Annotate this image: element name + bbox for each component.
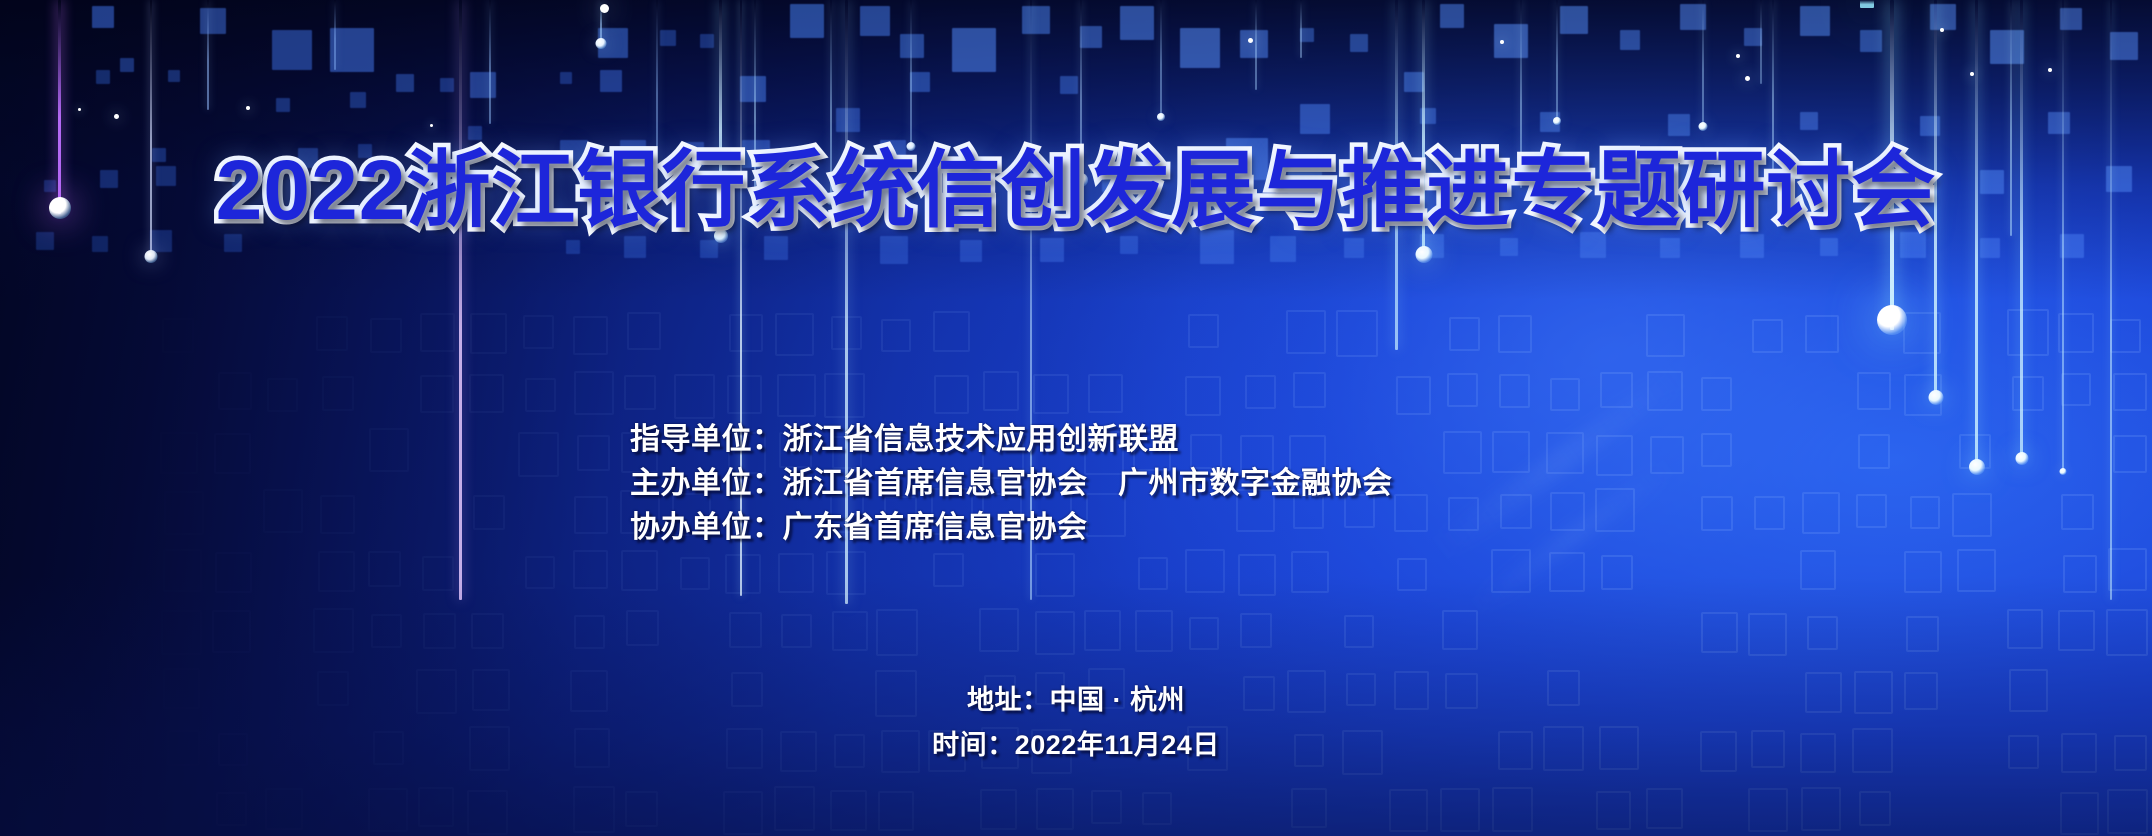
organizer-block: 指导单位：浙江省信息技术应用创新联盟 主办单位：浙江省首席信息官协会 广州市数字… — [630, 418, 1393, 550]
venue-block: 地址：中国 · 杭州 时间：2022年11月24日 — [0, 678, 2152, 768]
poster-canvas: 2022浙江银行系统信创发展与推进专题研讨会 指导单位：浙江省信息技术应用创新联… — [0, 0, 2152, 836]
poster-main-title: 2022浙江银行系统信创发展与推进专题研讨会 — [0, 148, 2152, 232]
venue-line-date: 时间：2022年11月24日 — [0, 723, 2152, 768]
poster-content: 2022浙江银行系统信创发展与推进专题研讨会 指导单位：浙江省信息技术应用创新联… — [0, 0, 2152, 836]
venue-line-address: 地址：中国 · 杭州 — [0, 678, 2152, 723]
organizer-line-co-host: 协办单位：广东省首席信息官协会 — [630, 506, 1393, 550]
organizer-line-guidance: 指导单位：浙江省信息技术应用创新联盟 — [630, 418, 1393, 462]
organizer-line-host: 主办单位：浙江省首席信息官协会 广州市数字金融协会 — [630, 462, 1393, 506]
